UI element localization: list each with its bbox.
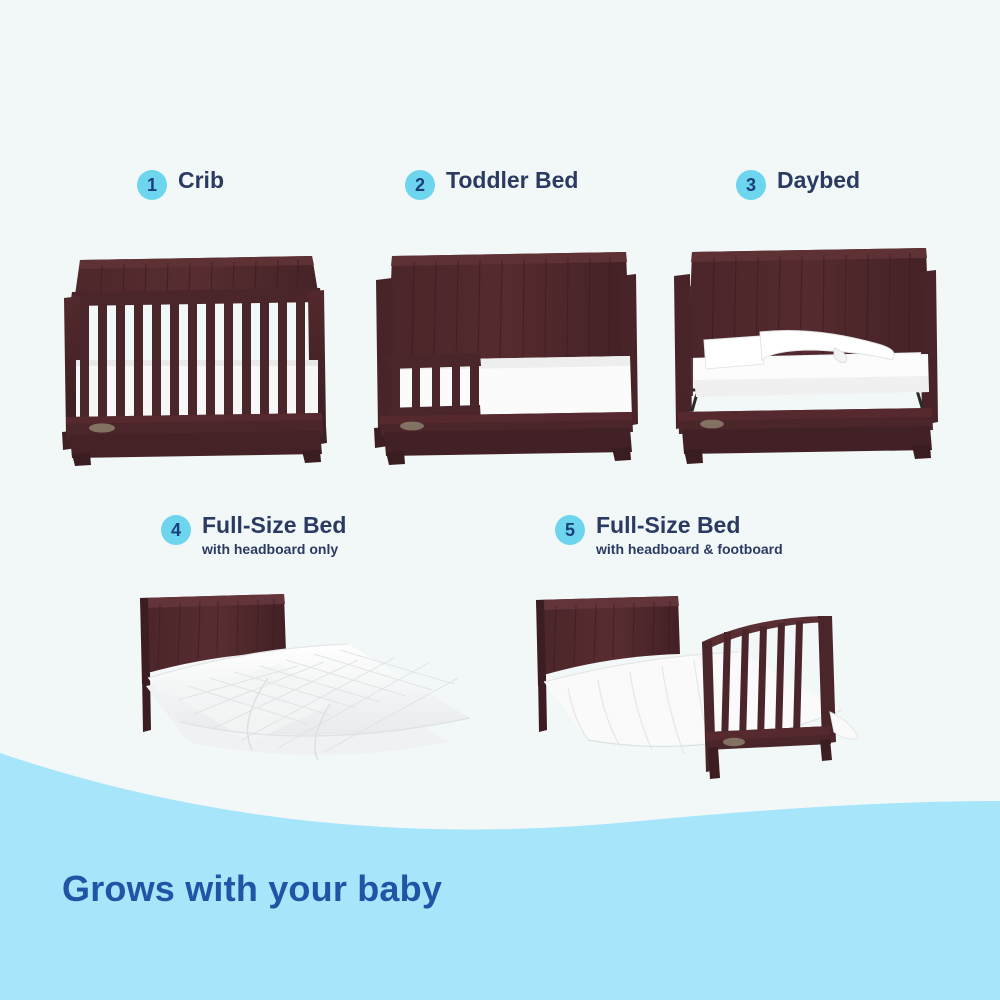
step-caption-1: 1 Crib — [137, 169, 224, 200]
step-badge-2: 2 — [405, 170, 435, 200]
step-subtitle-5: with headboard & footboard — [596, 542, 783, 556]
step-badge-4: 4 — [161, 515, 191, 545]
step-caption-5: 5 Full-Size Bed with headboard & footboa… — [555, 514, 783, 556]
step-title-3: Daybed — [777, 169, 860, 192]
step-text-4: Full-Size Bed with headboard only — [202, 514, 346, 556]
product-image-toddler-bed — [368, 240, 638, 468]
step-title-2: Toddler Bed — [446, 169, 578, 192]
step-badge-3: 3 — [736, 170, 766, 200]
headline-text: Grows with your baby — [62, 868, 442, 910]
step-title-4: Full-Size Bed — [202, 514, 346, 537]
step-title-1: Crib — [178, 169, 224, 192]
step-title-5: Full-Size Bed — [596, 514, 783, 537]
product-image-crib — [50, 232, 340, 467]
step-caption-3: 3 Daybed — [736, 169, 860, 200]
step-subtitle-4: with headboard only — [202, 542, 346, 556]
product-image-daybed — [664, 240, 939, 468]
step-badge-1: 1 — [137, 170, 167, 200]
step-caption-4: 4 Full-Size Bed with headboard only — [161, 514, 346, 556]
infographic-stage: 1 Crib 2 Toddler Bed 3 Daybed 4 Full-Siz… — [0, 0, 1000, 1000]
step-text-3: Daybed — [777, 169, 860, 192]
step-text-2: Toddler Bed — [446, 169, 578, 192]
step-caption-2: 2 Toddler Bed — [405, 169, 578, 200]
step-text-5: Full-Size Bed with headboard & footboard — [596, 514, 783, 556]
step-text-1: Crib — [178, 169, 224, 192]
step-badge-5: 5 — [555, 515, 585, 545]
